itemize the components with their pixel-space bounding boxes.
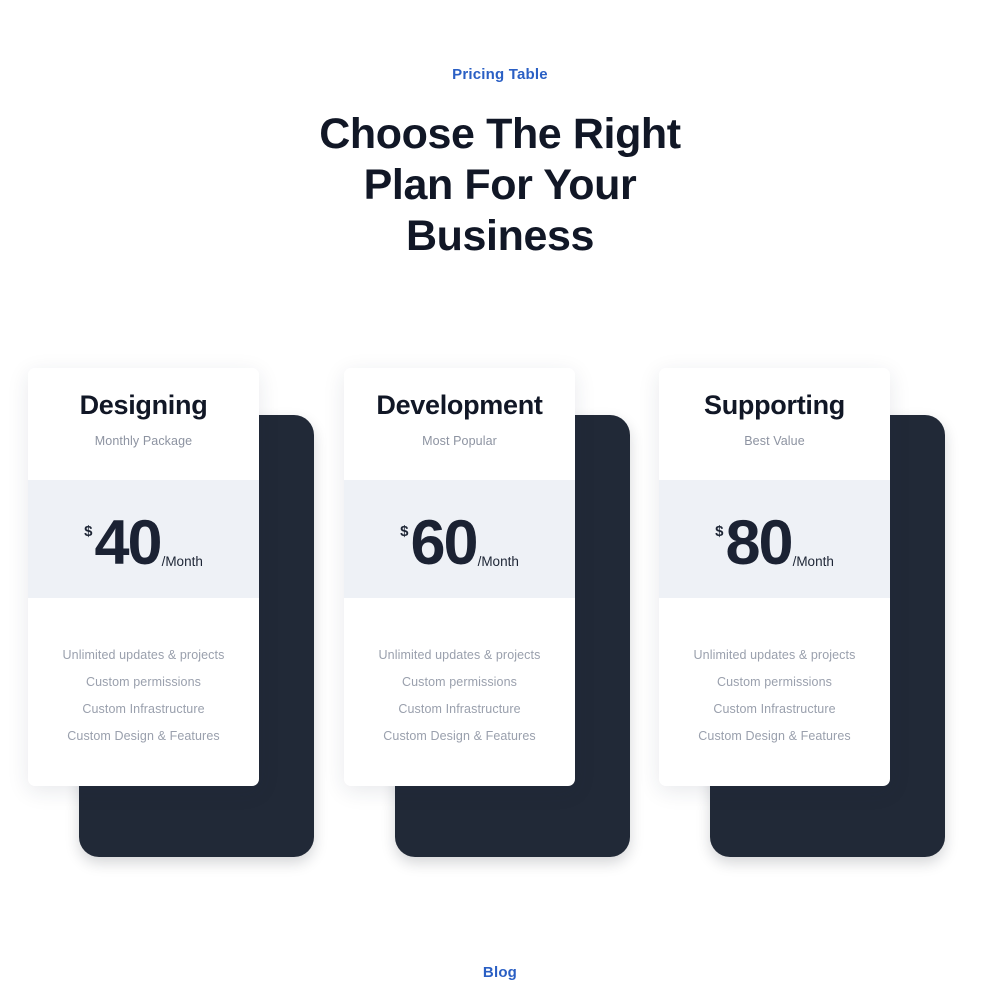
price-period: /Month	[793, 555, 834, 569]
plan-name: Development	[344, 388, 575, 422]
plan-subtitle: Monthly Package	[28, 434, 259, 448]
list-item: Unlimited updates & projects	[28, 642, 259, 669]
footer-link-blog[interactable]: Blog	[483, 964, 517, 981]
price-band: $ 40 /Month	[28, 480, 259, 598]
plan-subtitle: Best Value	[659, 434, 890, 448]
page-footer: Blog	[0, 964, 1000, 982]
list-item: Custom Design & Features	[659, 723, 890, 750]
pricing-card-body[interactable]: Supporting Best Value $ 80 /Month Unlimi…	[659, 368, 890, 786]
price-display: $ 40 /Month	[84, 512, 203, 575]
price-band: $ 80 /Month	[659, 480, 890, 598]
card-header: Development Most Popular	[344, 368, 575, 480]
pricing-card-development[interactable]: Development Most Popular $ 60 /Month Unl…	[344, 368, 660, 860]
plan-subtitle: Most Popular	[344, 434, 575, 448]
list-item: Custom Infrastructure	[659, 696, 890, 723]
card-header: Designing Monthly Package	[28, 368, 259, 480]
list-item: Custom Design & Features	[28, 723, 259, 750]
list-item: Custom permissions	[28, 669, 259, 696]
price-amount: 80	[725, 512, 791, 575]
price-amount: 60	[410, 512, 476, 575]
pricing-card-designing[interactable]: Designing Monthly Package $ 40 /Month Un…	[28, 368, 344, 860]
list-item: Unlimited updates & projects	[659, 642, 890, 669]
list-item: Custom permissions	[659, 669, 890, 696]
list-item: Custom Infrastructure	[344, 696, 575, 723]
pricing-card-body[interactable]: Designing Monthly Package $ 40 /Month Un…	[28, 368, 259, 786]
pricing-card-supporting[interactable]: Supporting Best Value $ 80 /Month Unlimi…	[659, 368, 975, 860]
list-item: Custom permissions	[344, 669, 575, 696]
pricing-card-body[interactable]: Development Most Popular $ 60 /Month Unl…	[344, 368, 575, 786]
plan-name: Supporting	[659, 388, 890, 422]
list-item: Custom Design & Features	[344, 723, 575, 750]
pricing-cards: Designing Monthly Package $ 40 /Month Un…	[0, 368, 1000, 868]
feature-list: Unlimited updates & projects Custom perm…	[344, 598, 575, 786]
headline-line-3: Business	[0, 211, 1000, 262]
page-header: Pricing Table Choose The Right Plan For …	[0, 66, 1000, 262]
list-item: Unlimited updates & projects	[344, 642, 575, 669]
section-eyebrow: Pricing Table	[0, 66, 1000, 83]
headline-line-2: Plan For Your	[0, 160, 1000, 211]
page-title: Choose The Right Plan For Your Business	[0, 109, 1000, 262]
list-item: Custom Infrastructure	[28, 696, 259, 723]
price-band: $ 60 /Month	[344, 480, 575, 598]
currency-symbol: $	[715, 524, 723, 539]
price-display: $ 80 /Month	[715, 512, 834, 575]
currency-symbol: $	[84, 524, 92, 539]
currency-symbol: $	[400, 524, 408, 539]
feature-list: Unlimited updates & projects Custom perm…	[28, 598, 259, 786]
price-display: $ 60 /Month	[400, 512, 519, 575]
price-period: /Month	[162, 555, 203, 569]
pricing-page: Pricing Table Choose The Right Plan For …	[0, 0, 1000, 1000]
headline-line-1: Choose The Right	[0, 109, 1000, 160]
feature-list: Unlimited updates & projects Custom perm…	[659, 598, 890, 786]
price-amount: 40	[94, 512, 160, 575]
price-period: /Month	[478, 555, 519, 569]
card-header: Supporting Best Value	[659, 368, 890, 480]
plan-name: Designing	[28, 388, 259, 422]
